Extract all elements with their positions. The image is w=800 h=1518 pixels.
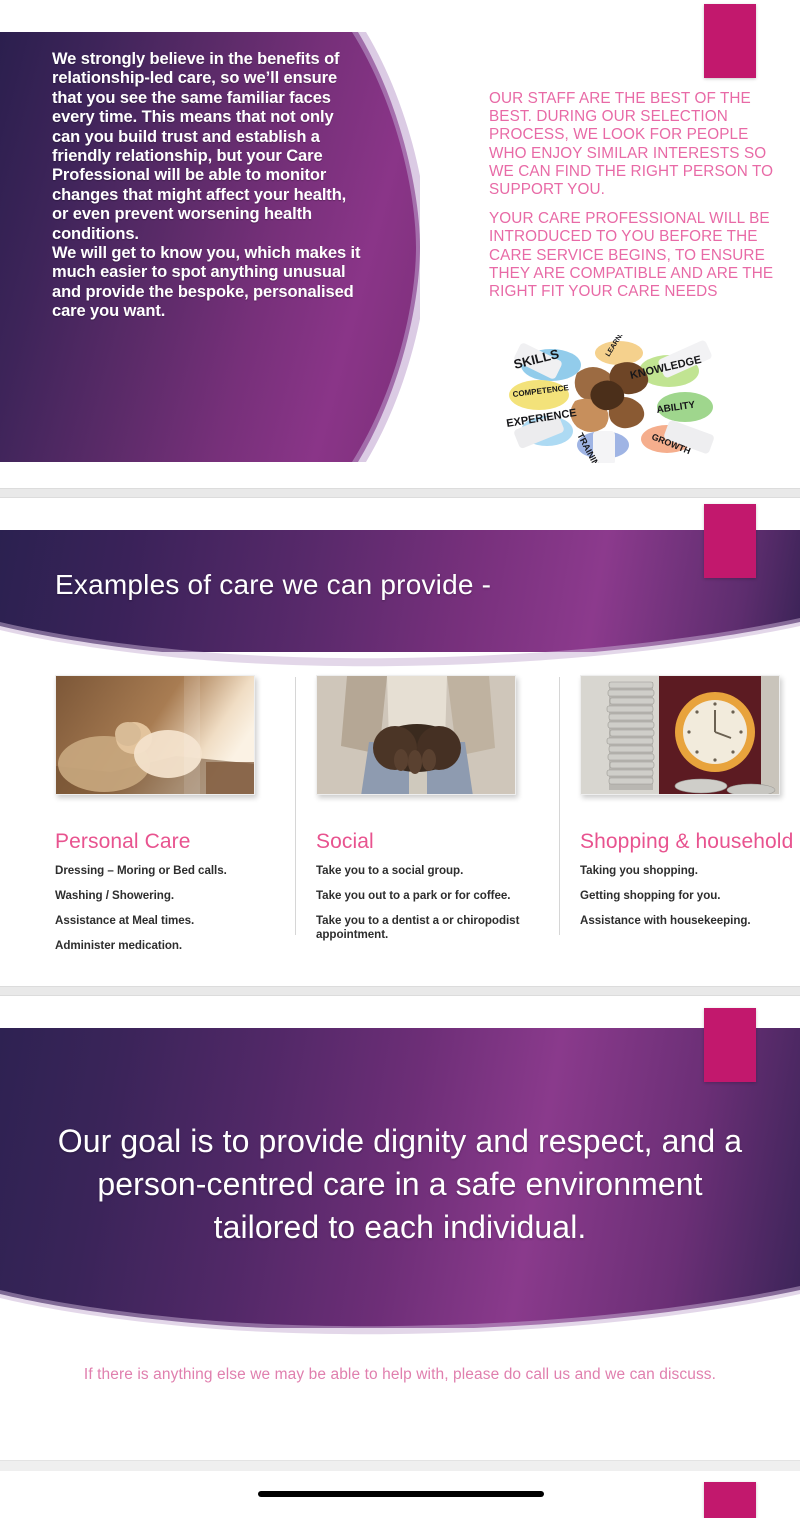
list-item: Take you out to a park or for coffee. xyxy=(316,889,536,903)
pink-accent-tab xyxy=(704,504,756,578)
presentation-deck: We strongly believe in the benefits of r… xyxy=(0,0,800,1518)
slide-separator-3 xyxy=(0,1461,800,1471)
care-card-social: Social Take you to a social group. Take … xyxy=(316,675,536,964)
list-item: Taking you shopping. xyxy=(580,864,800,878)
slide-1-panel-text: We strongly believe in the benefits of r… xyxy=(52,50,362,322)
slide-2-title: Examples of care we can provide - xyxy=(55,569,491,601)
personal-care-photo xyxy=(55,675,255,795)
slide-4-peek xyxy=(0,1480,800,1518)
slide-1-paragraph-1: We strongly believe in the benefits of r… xyxy=(52,50,362,244)
slide-separator-2 xyxy=(0,986,800,996)
pink-accent-tab xyxy=(704,1482,756,1518)
slide-1-paragraph-2: We will get to know you, which makes it … xyxy=(52,244,362,322)
pink-accent-tab xyxy=(704,1008,756,1082)
social-care-photo xyxy=(316,675,516,795)
list-item: Assistance at Meal times. xyxy=(55,914,275,928)
teamwork-hands-photo: SKILLS COMPETENCE EXPERIENCE LEARNING KN… xyxy=(499,335,727,463)
list-item: Administer medication. xyxy=(55,939,275,953)
list-item: Washing / Showering. xyxy=(55,889,275,903)
care-card-shopping-household: Shopping & household Taking you shopping… xyxy=(580,675,800,964)
slide-1-right-text-block: OUR STAFF ARE THE BEST OF THE BEST. DURI… xyxy=(489,90,779,301)
care-card-title: Shopping & household xyxy=(580,830,800,854)
shopping-household-photo xyxy=(580,675,780,795)
slide-3-headline: Our goal is to provide dignity and respe… xyxy=(40,1120,760,1249)
slide-2: Examples of care we can provide - xyxy=(0,500,800,988)
list-item: Assistance with housekeeping. xyxy=(580,914,800,928)
slide-1-right-paragraph-2: YOUR CARE PROFESSIONAL WILL BE INTRODUCE… xyxy=(489,210,779,301)
list-item: Take you to a dentist a or chiropodist a… xyxy=(316,914,536,942)
list-item: Getting shopping for you. xyxy=(580,889,800,903)
card-divider xyxy=(295,677,296,935)
care-card-item-list: Taking you shopping. Getting shopping fo… xyxy=(580,864,800,928)
slide-3-footer-note: If there is anything else we may be able… xyxy=(40,1363,760,1386)
slide-1: We strongly believe in the benefits of r… xyxy=(0,0,800,490)
slide-separator-1 xyxy=(0,488,800,498)
pink-accent-tab xyxy=(704,4,756,78)
list-item: Take you to a social group. xyxy=(316,864,536,878)
card-divider xyxy=(559,677,560,935)
care-card-item-list: Dressing – Moring or Bed calls. Washing … xyxy=(55,864,275,953)
list-item: Dressing – Moring or Bed calls. xyxy=(55,864,275,878)
care-card-title: Personal Care xyxy=(55,830,275,854)
slide-1-right-paragraph-1: OUR STAFF ARE THE BEST OF THE BEST. DURI… xyxy=(489,90,779,199)
care-card-personal-care: Personal Care Dressing – Moring or Bed c… xyxy=(55,675,275,964)
care-card-title: Social xyxy=(316,830,536,854)
care-card-item-list: Take you to a social group. Take you out… xyxy=(316,864,536,942)
home-indicator[interactable] xyxy=(258,1491,544,1497)
care-examples-card-row: Personal Care Dressing – Moring or Bed c… xyxy=(0,675,800,964)
